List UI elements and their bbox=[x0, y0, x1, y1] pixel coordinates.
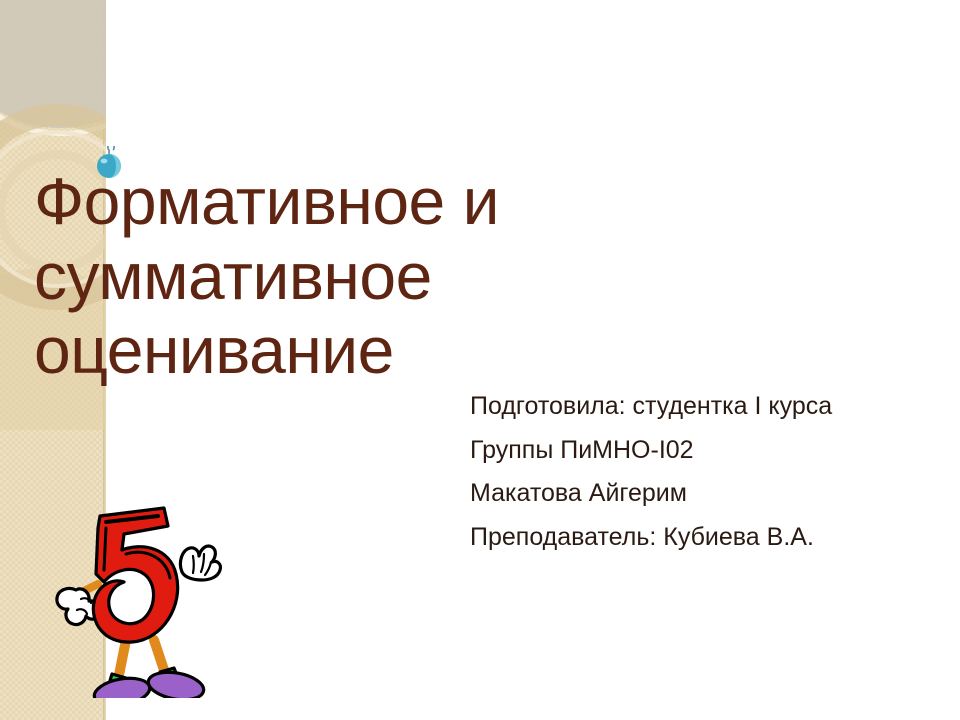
body-line-3: Макатова Айгерим bbox=[470, 479, 940, 509]
slide-body-text: Подготовила: студентка I курса Группы Пи… bbox=[470, 392, 940, 552]
slide-title: Формативное и суммативное оценивание bbox=[34, 164, 674, 388]
cartoon-number-five-character bbox=[54, 498, 224, 698]
body-line-2: Группы ПиМНО-I02 bbox=[470, 436, 940, 466]
presentation-slide: Формативное и суммативное оценивание Под… bbox=[0, 0, 960, 720]
body-line-1: Подготовила: студентка I курса bbox=[470, 392, 940, 422]
body-line-4: Преподаватель: Кубиева В.А. bbox=[470, 523, 940, 553]
